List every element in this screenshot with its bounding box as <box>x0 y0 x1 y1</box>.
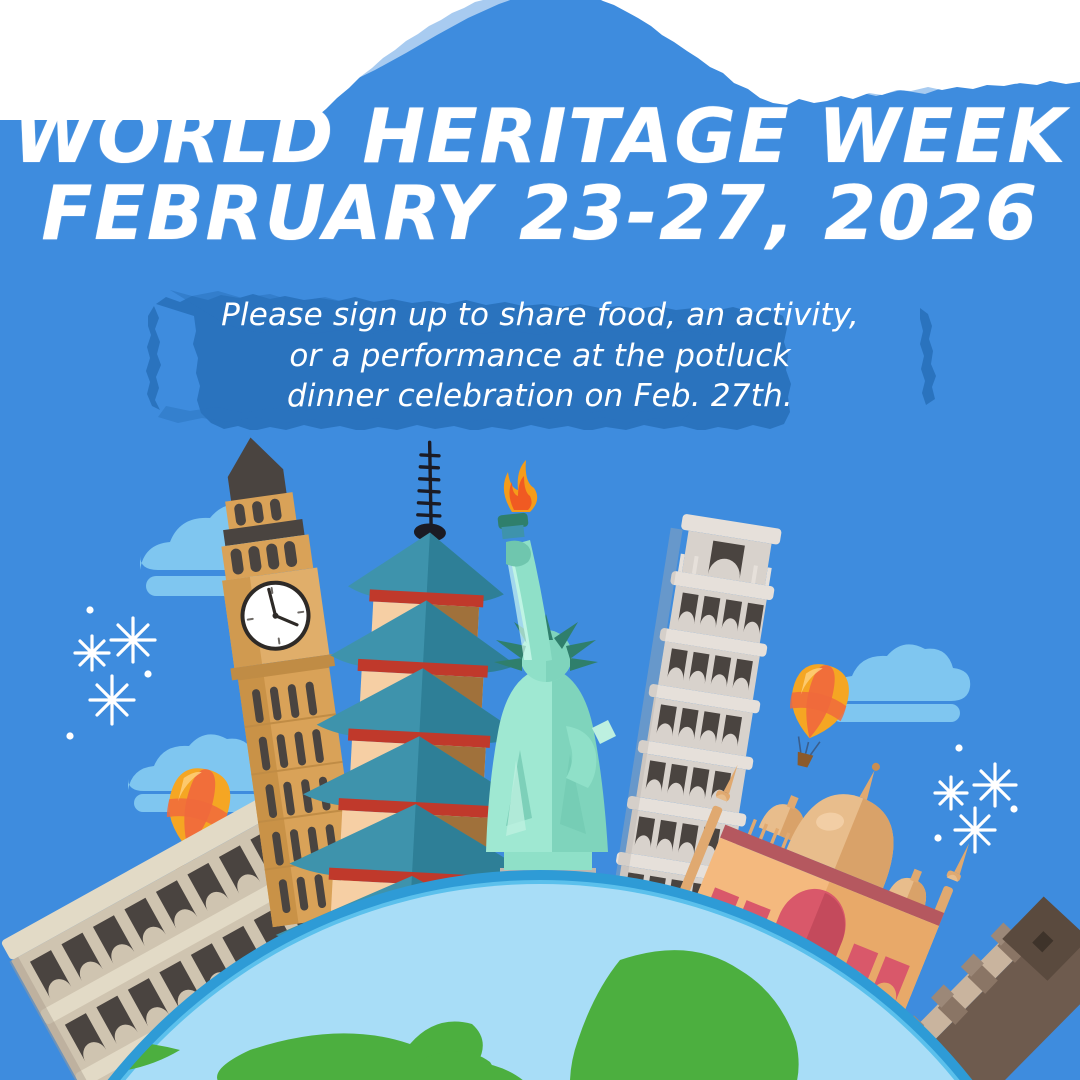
sparkle-cluster-right-icon <box>934 744 1017 852</box>
balloon-right-icon <box>775 659 854 773</box>
poster-canvas: WORLD HERITAGE WEEK FEBRUARY 23-27, 2026… <box>0 0 1080 1080</box>
sparkle-cluster-left-icon <box>66 606 155 739</box>
landmark-illustration <box>0 0 1080 1080</box>
